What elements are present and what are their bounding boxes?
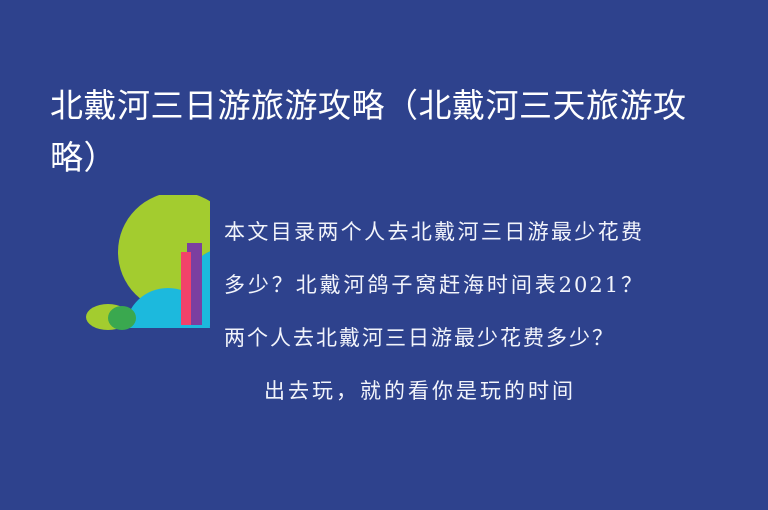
trees-illustration xyxy=(50,195,210,360)
bush-small-leaf-overlap xyxy=(108,306,136,330)
article-card: 北戴河三日游旅游攻略（北戴河三天旅游攻略） xyxy=(0,0,768,510)
body-paragraph: 本文目录两个人去北戴河三日游最少花费多少？北戴河鸽子窝赶海时间表2021？两个人… xyxy=(224,206,644,365)
large-tree-trunk-pink xyxy=(181,252,191,325)
page-title: 北戴河三日游旅游攻略（北戴河三天旅游攻略） xyxy=(50,80,690,184)
article-body: 本文目录两个人去北戴河三日游最少花费多少？北戴河鸽子窝赶海时间表2021？两个人… xyxy=(224,206,644,418)
body-paragraph: 出去玩，就的看你是玩的时间 xyxy=(224,365,644,418)
